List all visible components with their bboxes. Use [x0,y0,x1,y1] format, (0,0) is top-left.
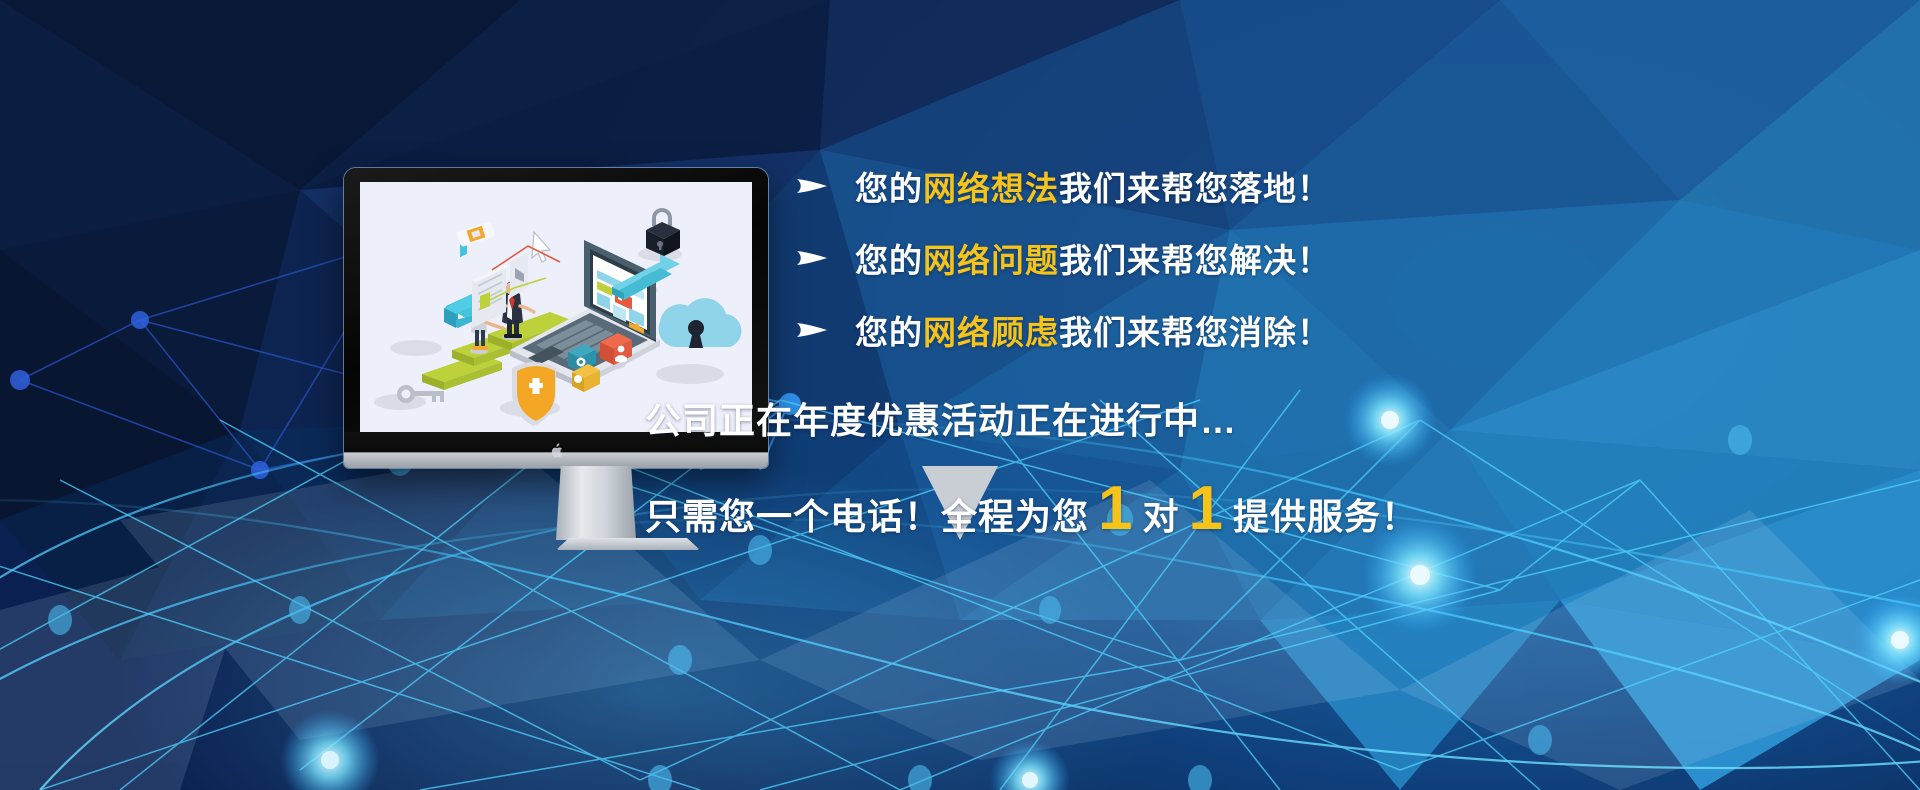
monitor-stand-neck-surface [556,466,636,540]
cta-part2: 提供服务！ [1233,488,1418,540]
arrow-right-icon [795,175,829,197]
bullet-text: 您的网络想法我们来帮您落地！ [855,162,1331,210]
arrow-right-icon [795,319,829,341]
cta-middle: 对 [1143,488,1180,540]
bullet-prefix: 您的 [855,242,923,279]
cta-line: 只需您一个电话！全程为您 1 对 1 提供服务！ [645,478,1845,540]
bullet-prefix: 您的 [855,314,923,351]
bullet-prefix: 您的 [855,170,923,207]
cta-number-one-first: 1 [1089,478,1142,540]
promo-banner: 您的网络想法我们来帮您落地！ 您的网络问题我们来帮您解决！ 您的网络顾虑我们来帮… [0,0,1920,790]
promo-line: 公司正在年度优惠活动正在进行中… [645,392,1845,444]
bullet-item: 您的网络问题我们来帮您解决！ [795,222,1845,294]
apple-logo-icon [549,443,563,459]
bullet-suffix: 我们来帮您解决！ [1059,242,1331,279]
bullet-suffix: 我们来帮您落地！ [1059,170,1331,207]
cta-part1: 只需您一个电话！全程为您 [645,488,1089,540]
bullet-item: 您的网络想法我们来帮您落地！ [795,150,1845,222]
bullet-text: 您的网络顾虑我们来帮您消除！ [855,306,1331,354]
copy-block: 您的网络想法我们来帮您落地！ 您的网络问题我们来帮您解决！ 您的网络顾虑我们来帮… [795,150,1845,540]
bullet-suffix: 我们来帮您消除！ [1059,314,1331,351]
arrow-right-icon [795,247,829,269]
bullet-text: 您的网络问题我们来帮您解决！ [855,234,1331,282]
cta-number-one-second: 1 [1180,478,1233,540]
bullet-highlight: 网络顾虑 [923,314,1059,351]
bullet-item: 您的网络顾虑我们来帮您消除！ [795,294,1845,366]
bullet-highlight: 网络问题 [923,242,1059,279]
bullet-highlight: 网络想法 [923,170,1059,207]
